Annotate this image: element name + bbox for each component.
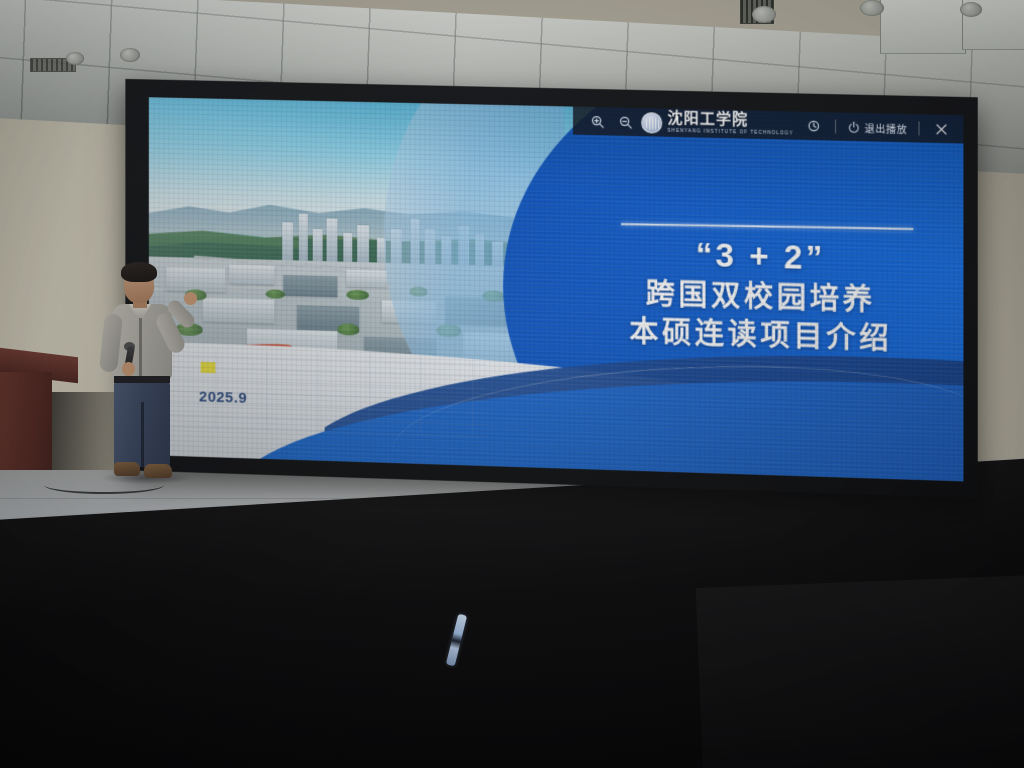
presenter-belt <box>114 376 170 383</box>
led-display-bezel: “3 + 2” 跨国双校园培养 本硕连读项目介绍 2025.9 <box>125 79 977 498</box>
stage-riser <box>696 572 1024 768</box>
presenter <box>96 262 224 490</box>
reset-rotate-icon[interactable] <box>800 112 828 141</box>
presenter-hand-right <box>184 292 197 305</box>
brand-name-cn: 沈阳工学院 <box>668 112 749 129</box>
ceiling-speaker-icon <box>66 52 84 65</box>
brand-name-en: SHENYANG INSTITUTE OF TECHNOLOGY <box>668 129 794 136</box>
presenter-shirt-placket <box>139 312 142 376</box>
ceiling-speaker-icon <box>960 2 982 17</box>
zoom-out-icon[interactable] <box>611 107 639 136</box>
presenter-hand-left <box>122 362 135 376</box>
toolbar-separator <box>919 121 920 135</box>
close-icon[interactable] <box>927 114 956 143</box>
power-icon <box>847 120 860 133</box>
presentation-slide: “3 + 2” 跨国双校园培养 本硕连读项目介绍 2025.9 <box>149 97 964 481</box>
ceiling-panel <box>880 0 966 54</box>
ceiling-speaker-icon <box>120 48 140 62</box>
ceiling-speaker-icon <box>860 0 884 16</box>
university-brand: 沈阳工学院 SHENYANG INSTITUTE OF TECHNOLOGY <box>641 111 793 136</box>
lecture-room: “3 + 2” 跨国双校园培养 本硕连读项目介绍 2025.9 <box>0 0 1024 768</box>
led-display-screen[interactable]: “3 + 2” 跨国双校园培养 本硕连读项目介绍 2025.9 <box>149 97 964 481</box>
presenter-shoe-left <box>114 462 140 476</box>
exit-playback-label: 退出播放 <box>865 120 908 136</box>
presenter-shoe-right <box>144 464 172 478</box>
ceiling-speaker-icon <box>752 6 776 23</box>
slide-title-block: “3 + 2” 跨国双校园培养 本硕连读项目介绍 <box>568 233 955 361</box>
zoom-in-icon[interactable] <box>583 107 611 136</box>
podium-body <box>0 372 52 480</box>
toolbar-separator <box>835 119 836 133</box>
presenter-leg-seam <box>141 402 144 468</box>
university-seal-icon <box>641 112 662 134</box>
presenter-hair <box>121 262 157 282</box>
exit-playback-button[interactable]: 退出播放 <box>843 119 911 136</box>
